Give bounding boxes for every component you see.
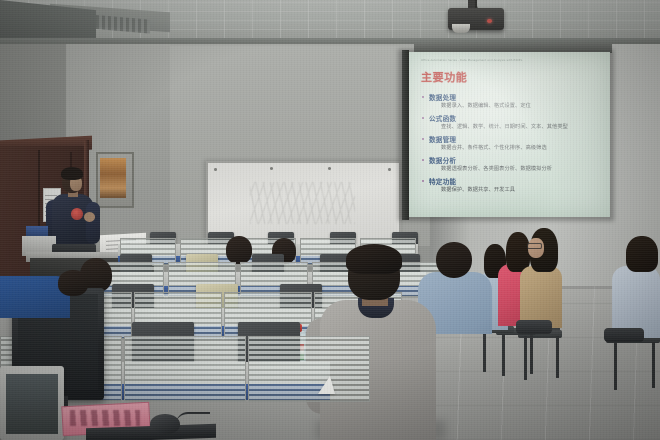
chair-leg	[614, 342, 617, 390]
chair-leg	[530, 334, 533, 374]
desk-glass-partition	[248, 336, 370, 402]
whiteboard-bolt	[270, 167, 273, 170]
chair-leg	[652, 342, 655, 388]
pink-card-handwriting	[70, 410, 140, 426]
instructor-hand	[84, 212, 95, 222]
student-head	[226, 236, 252, 264]
folded-paper-marker	[318, 376, 335, 394]
instructor-hair	[61, 167, 83, 180]
projection-screen-edge	[402, 50, 409, 220]
laptop	[516, 320, 552, 334]
instructor-arm-right	[86, 202, 100, 244]
wall-art-panel-image	[100, 158, 126, 198]
shirt-logo-icon	[71, 208, 83, 220]
chair-leg	[502, 334, 505, 376]
student-gray-jacket-hair	[346, 244, 402, 274]
chair-leg	[524, 336, 527, 380]
student-blue-shirt-head	[436, 242, 472, 278]
projector-lens	[452, 24, 470, 33]
man-light-blue-shirt-head	[626, 236, 658, 272]
desk-glass-partition	[124, 336, 246, 402]
classroom-photo: Office Automation Series - Data Manageme…	[0, 0, 660, 440]
laptop	[604, 328, 644, 342]
whiteboard-bolt	[388, 168, 391, 171]
whiteboard-bolt	[328, 167, 331, 170]
chair-leg	[483, 332, 486, 372]
projector-indicator-light	[487, 19, 492, 23]
projection-screen-glow	[409, 52, 610, 217]
woman-tan-coat-glasses	[520, 266, 562, 328]
whiteboard-erased-writing	[250, 182, 355, 224]
glasses-icon	[527, 243, 542, 249]
student-head	[58, 270, 88, 296]
monitor-screen	[6, 374, 58, 434]
mouse-cable	[176, 412, 210, 424]
computer-mouse	[150, 414, 180, 434]
chair-leg	[556, 336, 559, 378]
whiteboard-bolt	[214, 168, 217, 171]
